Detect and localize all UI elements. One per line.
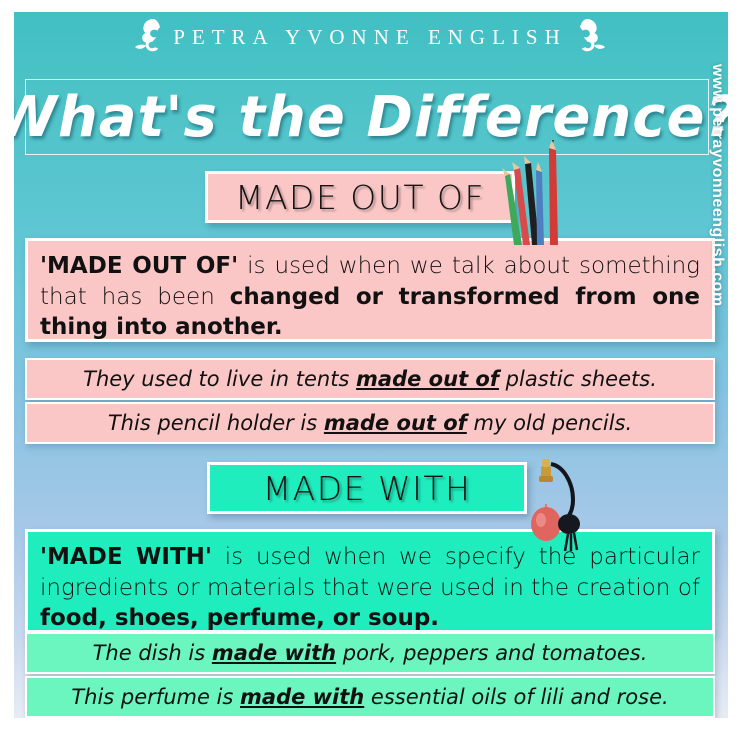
example-with-2-phrase: made with: [240, 685, 364, 709]
fox-logo-right-icon: [571, 16, 607, 58]
infographic-poster: PETRA YVONNE ENGLISH What's the Differen…: [0, 0, 740, 740]
banner-made-with-label: MADE WITH: [263, 469, 472, 508]
margin-left: [0, 0, 14, 740]
margin-top: [0, 0, 740, 12]
example-made-out-of-2: This pencil holder is made out of my old…: [25, 402, 715, 444]
example-out-1-before: They used to live in tents: [83, 367, 356, 391]
colored-pencils-icon: [492, 140, 582, 245]
brand-name: PETRA YVONNE ENGLISH: [171, 25, 569, 50]
page-title: What's the Difference?: [28, 72, 706, 162]
example-with-1-before: The dish is: [93, 641, 212, 665]
example-out-1-phrase: made out of: [356, 367, 499, 391]
banner-made-out-of: MADE OUT OF: [205, 171, 515, 223]
fox-logo-left-icon: [133, 16, 169, 58]
banner-made-out-of-label: MADE OUT OF: [235, 178, 485, 217]
example-with-2-after: essential oils of lili and rose.: [364, 685, 668, 709]
brand-header: PETRA YVONNE ENGLISH: [0, 14, 740, 60]
example-with-1-after: pork, peppers and tomatoes.: [336, 641, 647, 665]
example-out-1-after: plastic sheets.: [499, 367, 657, 391]
perfume-bottle-icon: [505, 452, 590, 552]
definition-with-emphasis: food, shoes, perfume, or soup.: [40, 605, 439, 631]
margin-bottom: [0, 718, 740, 740]
definition-made-with: 'MADE WITH' is used when we specify the …: [25, 529, 715, 633]
site-watermark: www.petrayvonneenglish.com: [708, 64, 726, 307]
example-made-out-of-1: They used to live in tents made out of p…: [25, 358, 715, 400]
definition-out-lead: 'MADE OUT OF': [40, 253, 238, 279]
example-made-with-2: This perfume is made with essential oils…: [25, 676, 715, 718]
example-out-2-before: This pencil holder is: [108, 411, 324, 435]
example-made-with-1: The dish is made with pork, peppers and …: [25, 632, 715, 674]
definition-made-out-of: 'MADE OUT OF' is used when we talk about…: [25, 238, 715, 342]
example-with-1-phrase: made with: [212, 641, 336, 665]
example-out-2-after: my old pencils.: [467, 411, 632, 435]
example-out-2-phrase: made out of: [324, 411, 467, 435]
banner-made-with: MADE WITH: [207, 462, 527, 514]
definition-with-lead: 'MADE WITH': [40, 544, 212, 570]
example-with-2-before: This perfume is: [71, 685, 240, 709]
margin-right: [728, 0, 740, 740]
